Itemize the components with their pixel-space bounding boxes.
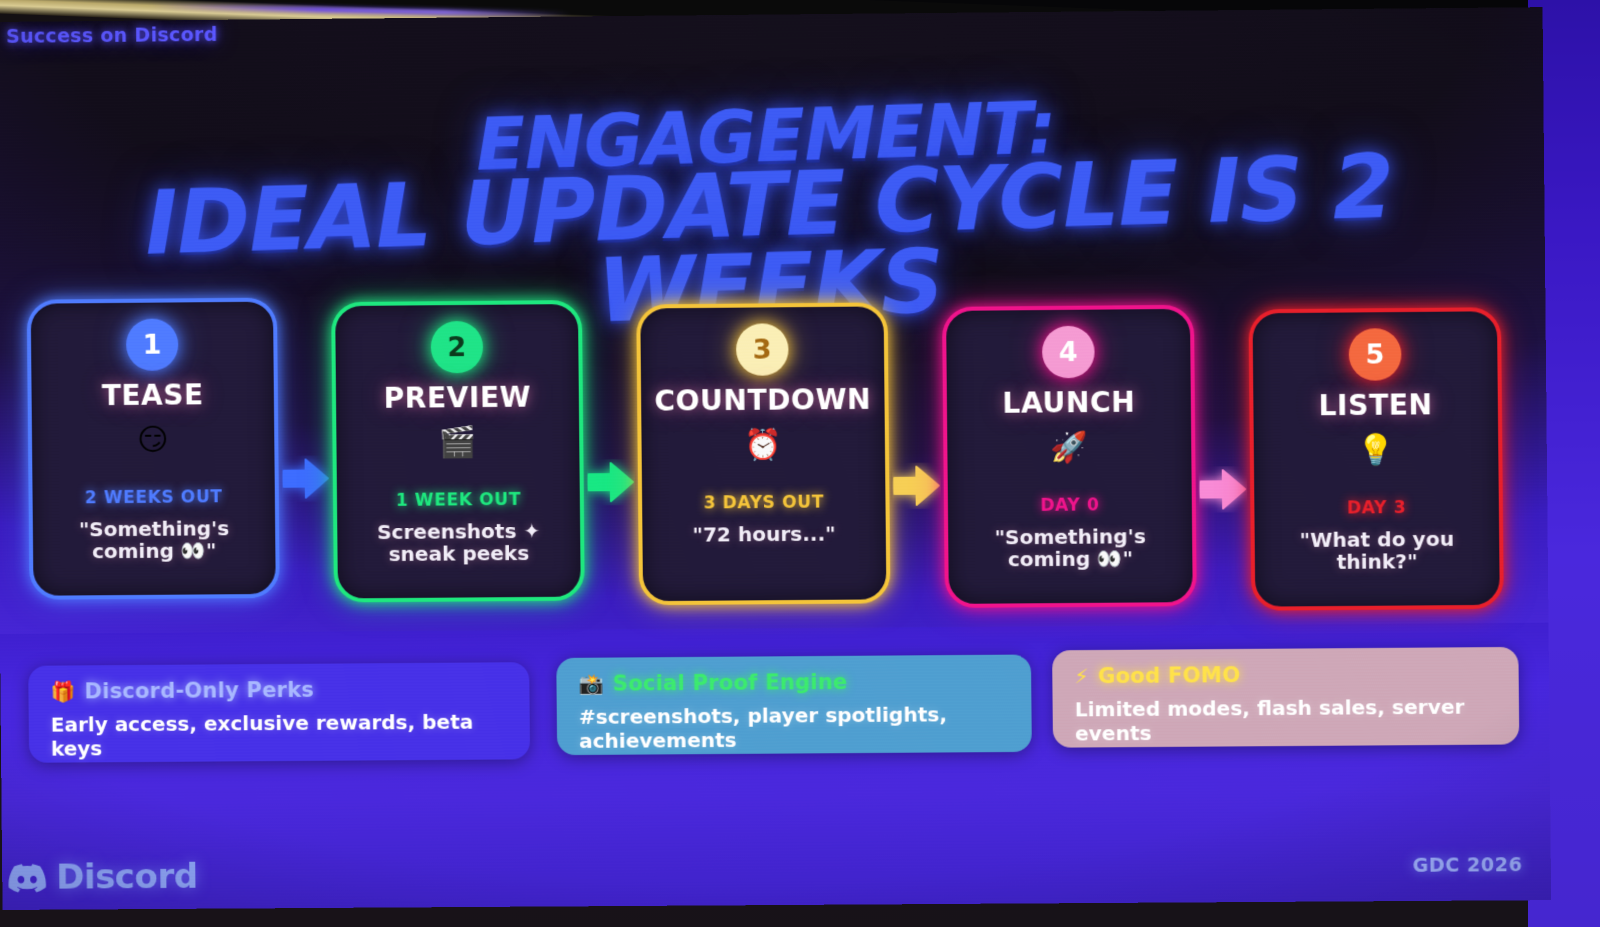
banner-heading-row: 🎁Discord-Only Perks xyxy=(50,676,507,703)
step-title: LAUNCH xyxy=(1002,386,1135,420)
lightning-bolt-icon: ⚡ xyxy=(1074,666,1089,686)
cycle-step-3: 3COUNTDOWN⏰3 DAYS OUT"72 hours..." xyxy=(636,292,890,605)
step-number-badge: 2 xyxy=(431,321,484,374)
step-timing-label: 2 WEEKS OUT xyxy=(85,487,223,508)
step-title: PREVIEW xyxy=(384,381,532,415)
cycle-card-launch[interactable]: 4LAUNCH🚀DAY 0"Something's coming 👀" xyxy=(942,305,1197,608)
step-timing-label: DAY 0 xyxy=(1040,495,1099,516)
flow-arrow-icon xyxy=(1199,466,1248,513)
step-number-badge: 4 xyxy=(1042,326,1095,379)
cycle-step-1: 1TEASE😏2 WEEKS OUT"Something's coming 👀" xyxy=(27,298,280,600)
banner-subtext: Limited modes, flash sales, server event… xyxy=(1075,694,1497,745)
slide-kicker: Success on Discord xyxy=(6,24,218,48)
step-example-copy: "Something's coming 👀" xyxy=(33,517,276,564)
step-example-copy: Screenshots ✦ sneak peeks xyxy=(337,519,580,566)
rocket-emoji: 🚀 xyxy=(1050,431,1088,465)
presentation-slide: Success on Discord ENGAGEMENT: IDEAL UPD… xyxy=(0,7,1551,910)
step-title: COUNTDOWN xyxy=(654,383,871,418)
banner-heading-text: Social Proof Engine xyxy=(613,670,848,696)
tactic-banner-2[interactable]: 📸Social Proof Engine#screenshots, player… xyxy=(556,654,1032,755)
cycle-card-tease[interactable]: 1TEASE😏2 WEEKS OUT"Something's coming 👀" xyxy=(27,298,280,600)
cycle-card-listen[interactable]: 5LISTEN💡DAY 3"What do you think?" xyxy=(1248,307,1503,611)
cycle-step-5: 5LISTEN💡DAY 3"What do you think?" xyxy=(1248,287,1504,611)
step-example-copy: "What do you think?" xyxy=(1255,527,1500,574)
camera-with-flash-icon: 📸 xyxy=(578,674,603,694)
banner-heading-row: 📸Social Proof Engine xyxy=(578,669,1009,696)
step-number-badge: 1 xyxy=(126,318,179,370)
step-timing-label: 3 DAYS OUT xyxy=(703,492,824,513)
banner-heading-text: Discord-Only Perks xyxy=(84,678,314,704)
alarm-clock-emoji: ⏰ xyxy=(744,429,782,463)
discord-brand-footer: Discord xyxy=(8,857,198,898)
banner-heading-row: ⚡Good FOMO xyxy=(1074,661,1496,688)
tactic-banner-1[interactable]: 🎁Discord-Only PerksEarly access, exclusi… xyxy=(28,662,530,763)
cycle-card-preview[interactable]: 2PREVIEW🎬1 WEEK OUTScreenshots ✦ sneak p… xyxy=(331,300,585,603)
flow-arrow-icon xyxy=(586,459,635,505)
clapper-board-emoji: 🎬 xyxy=(439,426,477,460)
discord-logo-icon xyxy=(8,863,46,892)
smirking-face-emoji: 😏 xyxy=(137,424,169,458)
discord-wordmark: Discord xyxy=(56,857,198,898)
step-timing-label: 1 WEEK OUT xyxy=(396,490,521,511)
step-example-copy: "Something's coming 👀" xyxy=(948,525,1192,572)
step-example-copy: "72 hours..." xyxy=(684,522,844,546)
gift-icon: 🎁 xyxy=(50,681,75,701)
tactic-banner-3[interactable]: ⚡Good FOMOLimited modes, flash sales, se… xyxy=(1052,647,1519,748)
step-title: TEASE xyxy=(102,378,204,412)
banner-subtext: #screenshots, player spotlights, achieve… xyxy=(579,702,1010,753)
banner-subtext: Early access, exclusive rewards, beta ke… xyxy=(51,709,508,760)
step-number-badge: 5 xyxy=(1349,328,1402,381)
tactic-banner-row: 🎁Discord-Only PerksEarly access, exclusi… xyxy=(28,647,1519,763)
banner-heading-text: Good FOMO xyxy=(1098,663,1241,688)
cycle-step-2: 2PREVIEW🎬1 WEEK OUTScreenshots ✦ sneak p… xyxy=(331,295,585,603)
light-bulb-emoji: 💡 xyxy=(1357,434,1395,468)
step-number-badge: 3 xyxy=(736,323,789,376)
cycle-card-countdown[interactable]: 3COUNTDOWN⏰3 DAYS OUT"72 hours..." xyxy=(636,302,890,605)
event-label: GDC 2026 xyxy=(1412,854,1522,877)
update-cycle-card-row: 1TEASE😏2 WEEKS OUT"Something's coming 👀"… xyxy=(27,287,1529,630)
cycle-step-4: 4LAUNCH🚀DAY 0"Something's coming 👀" xyxy=(942,290,1197,608)
flow-arrow-icon xyxy=(892,462,941,509)
flow-arrow-icon xyxy=(281,455,330,501)
projected-slide-photo: Success on Discord ENGAGEMENT: IDEAL UPD… xyxy=(0,0,1600,927)
step-title: LISTEN xyxy=(1318,388,1433,422)
step-timing-label: DAY 3 xyxy=(1347,498,1406,519)
